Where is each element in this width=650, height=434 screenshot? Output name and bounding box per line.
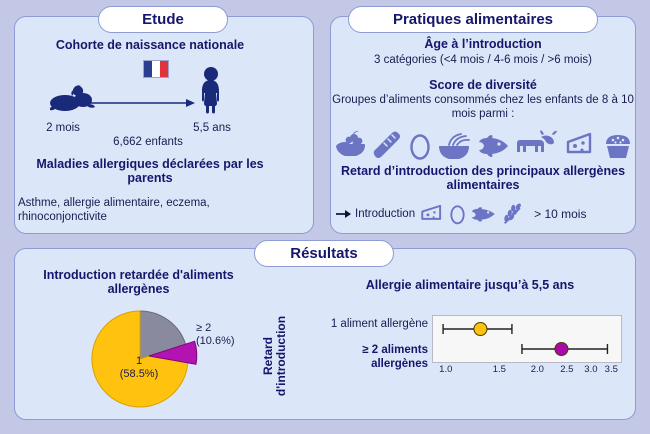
- etude-subheading: Maladies allergiques déclarées par les p…: [14, 157, 286, 185]
- pie-label-ge2: ≥ 2 (10.6%): [196, 322, 262, 348]
- child-icon: [196, 66, 226, 114]
- pratiques-text-groupes: Groupes d’aliments consommés chez les en…: [332, 94, 634, 122]
- introduction-threshold-label: > 10 mois: [534, 207, 586, 221]
- x-axis-tick-label: 2.0: [531, 364, 544, 375]
- pie-label-one-line1: 1: [104, 355, 174, 368]
- french-flag-icon: [143, 60, 169, 78]
- pratiques-heading-score: Score de diversité: [336, 78, 630, 92]
- cupcake-icon: [602, 130, 634, 160]
- forest-row-marker: [522, 343, 607, 356]
- panel-etude-title-pill: Etude: [98, 6, 228, 33]
- pratiques-heading-age: Âge à l’introduction: [336, 37, 630, 51]
- panel-resultats-title-pill: Résultats: [254, 240, 394, 267]
- forest-plot-x-axis: 1.01.52.02.53.03.5: [432, 364, 622, 378]
- label-start-age: 2 mois: [32, 122, 94, 136]
- x-axis-tick-label: 3.5: [605, 364, 618, 375]
- x-axis-tick-label: 1.5: [493, 364, 506, 375]
- forest-plot-title: Allergie alimentaire jusqu’à 5,5 ans: [310, 278, 630, 292]
- x-axis-tick-label: 3.0: [584, 364, 597, 375]
- fish-icon: [470, 203, 498, 225]
- forest-row-marker: [443, 323, 512, 336]
- forest-row-label-1: 1 aliment allergène: [300, 318, 428, 330]
- pie-chart-title: Introduction retardée d'aliments allergè…: [36, 268, 241, 296]
- pratiques-heading-retard: Retard d’introduction des principaux all…: [336, 164, 630, 192]
- pie-label-one-line2: (58.5%): [104, 368, 174, 381]
- etude-heading: Cohorte de naissance nationale: [14, 38, 286, 52]
- etude-conditions-text: Asthme, allergie alimentaire, eczema, rh…: [18, 196, 298, 224]
- introduction-threshold-row: Introduction: [336, 202, 636, 226]
- noodle-bowl-icon: [437, 130, 471, 160]
- pratiques-text-categories: 3 catégories (<4 mois / 4-6 mois / >6 mo…: [332, 54, 634, 68]
- wheat-icon: [502, 203, 526, 225]
- baguette-icon: [374, 130, 402, 160]
- pie-label-one: 1 (58.5%): [104, 355, 174, 381]
- cow-icon: [517, 130, 557, 160]
- forest-plot-y-axis-label: Retard d'introduction: [262, 304, 290, 408]
- fish-icon: [477, 130, 511, 160]
- arrow-right-icon: [336, 208, 351, 220]
- y-axis-label-line2: d'introduction: [275, 304, 288, 408]
- forest-row-label-2-line2: allergènes: [296, 358, 428, 372]
- forest-row-label-2-line1: ≥ 2 aliments: [296, 344, 428, 358]
- arrow-right-icon: [88, 98, 196, 108]
- introduction-label: Introduction: [355, 208, 415, 220]
- label-cohort-size: 6,662 enfants: [90, 136, 206, 150]
- food-group-icon-row: [334, 126, 634, 160]
- forest-plot-area: [432, 315, 622, 363]
- infographic-root: Etude Cohorte de naissance nationale: [0, 0, 650, 434]
- x-axis-tick-label: 2.5: [560, 364, 573, 375]
- forest-row-label-2: ≥ 2 aliments allergènes: [296, 344, 428, 371]
- egg-icon: [409, 130, 431, 160]
- cheese-icon: [564, 130, 596, 160]
- panel-pratiques-title-pill: Pratiques alimentaires: [348, 6, 598, 33]
- cheese-icon: [419, 203, 445, 225]
- x-axis-tick-label: 1.0: [439, 364, 452, 375]
- fruit-bowl-icon: [334, 130, 368, 160]
- pie-label-ge2-line2: (10.6%): [196, 335, 262, 348]
- label-end-age: 5,5 ans: [180, 122, 244, 136]
- egg-icon: [449, 203, 466, 225]
- pie-label-ge2-line1: ≥ 2: [196, 322, 262, 335]
